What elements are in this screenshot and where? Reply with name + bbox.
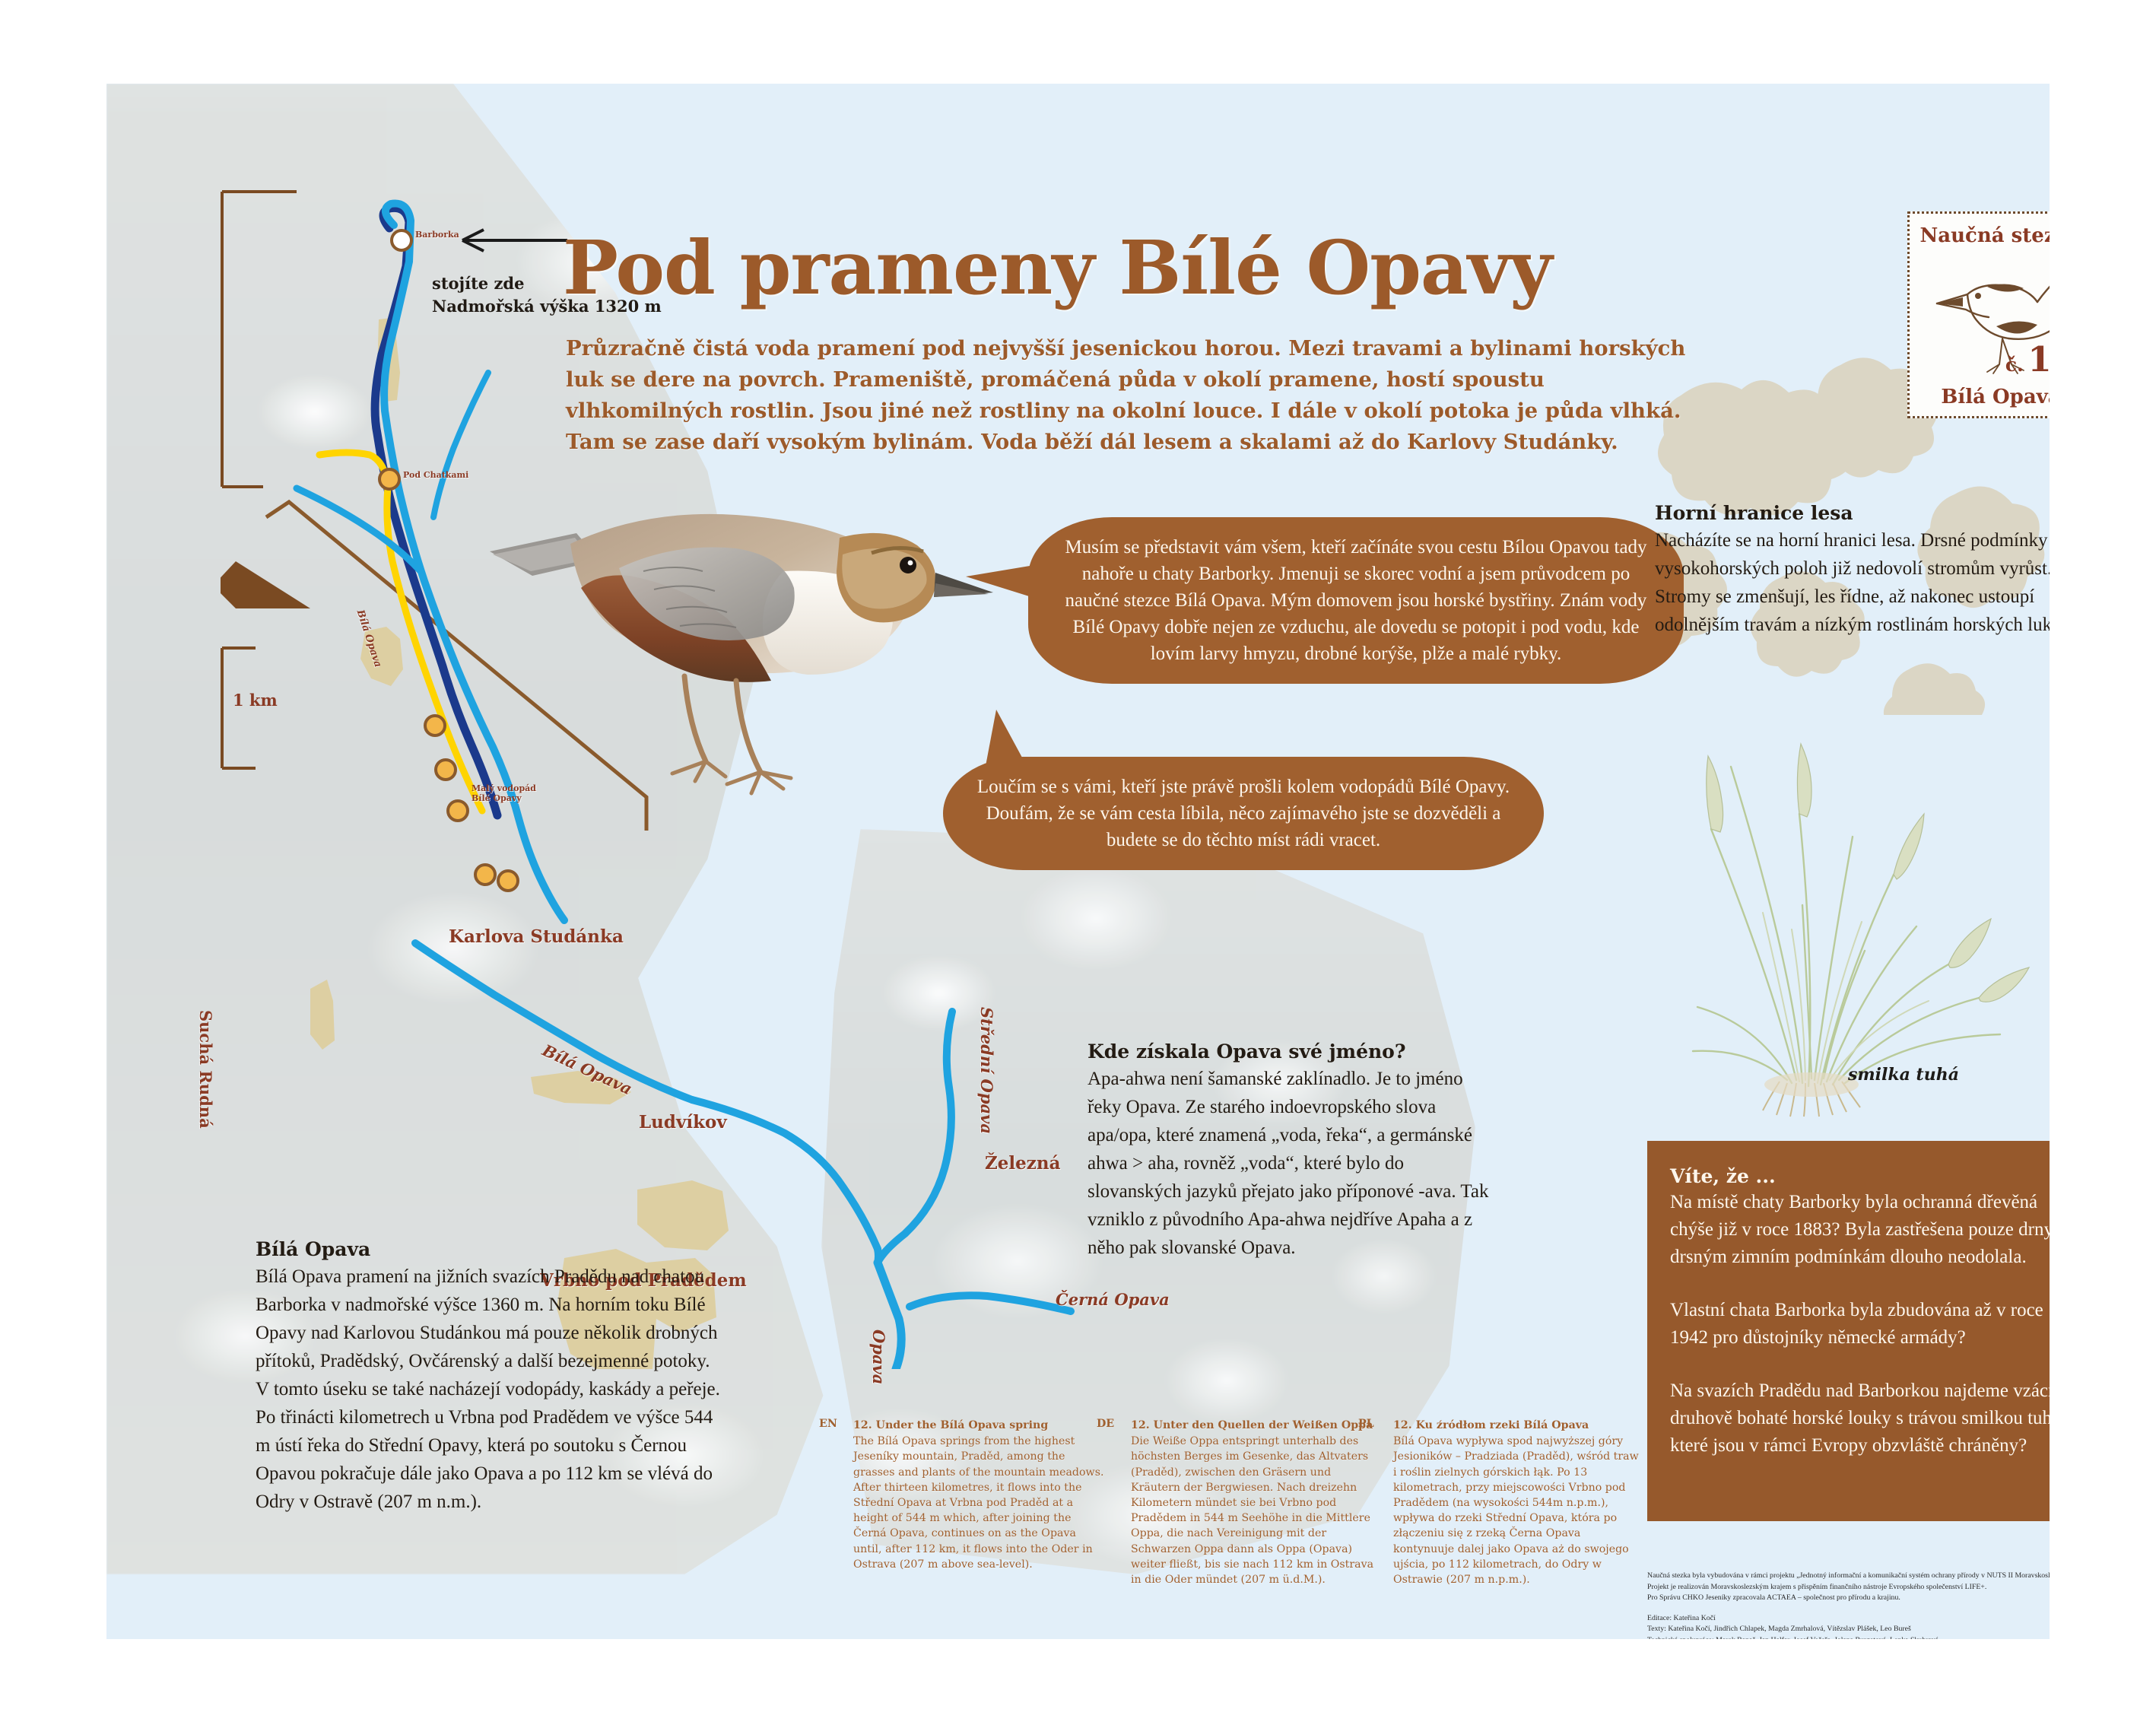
stamp-top-label: Naučná stezka — [1910, 224, 2050, 247]
translation-de-body: Die Weiße Oppa entspringt unterhalb des … — [1131, 1435, 1373, 1586]
translation-en-heading: 12. Under the Bílá Opava spring — [853, 1418, 1104, 1433]
translation-en: 12. Under the Bílá Opava spring The Bílá… — [853, 1418, 1104, 1572]
translation-lang-en: EN — [819, 1418, 837, 1430]
bubble-tail-icon — [966, 564, 1039, 599]
article-bila-opava: Bílá Opava Bílá Opava pramení na jižních… — [256, 1238, 727, 1516]
translation-pl: 12. Ku źródłom rzeki Bílá Opava Bílá Opa… — [1393, 1418, 1644, 1587]
north-arrow-icon — [221, 561, 310, 608]
translation-en-body: The Bílá Opava springs from the highest … — [853, 1435, 1104, 1571]
translation-pl-body: Bílá Opava wypływa spod najwyższej góry … — [1393, 1435, 1639, 1586]
did-you-know-box: Víte, že ... Na místě chaty Barborky byl… — [1647, 1141, 2050, 1521]
dipper-bird-illustration — [485, 498, 1002, 863]
did-you-know-paragraph-1: Na místě chaty Barborky byla ochranná dř… — [1670, 1189, 2050, 1271]
nardus-stricta-illustration — [1665, 723, 2046, 1118]
translation-de: 12. Unter den Quellen der Weißen Oppa Di… — [1131, 1418, 1382, 1587]
article-name-origin-heading: Kde získala Opava své jméno? — [1088, 1040, 1498, 1063]
map-river-opava: Opava — [869, 1329, 888, 1384]
credit-editor: Editace: Kateřina Kočí — [1647, 1613, 2050, 1625]
credits-spacer — [1647, 1604, 2050, 1613]
did-you-know-heading: Víte, že ... — [1670, 1165, 2050, 1187]
map-river-cerna-opava: Černá Opava — [1056, 1290, 1170, 1309]
article-bila-opava-body: Bílá Opava pramení na jižních svazích Pr… — [256, 1263, 727, 1516]
speech-bubble-farewell-text: Loučím se s vámi, kteří jste právě prošl… — [977, 777, 1510, 850]
bubble-tail-icon — [986, 710, 1027, 766]
credit-line-1: Naučná stezka byla vybudována v rámci pr… — [1647, 1571, 2050, 1582]
page-title: Pod prameny Bílé Opavy — [563, 224, 1551, 311]
credit-line-3: Pro Správu CHKO Jeseníky zpracovala ACTA… — [1647, 1593, 2050, 1604]
information-board: stojíte zde Nadmořská výška 1320 m Barbo… — [106, 84, 2050, 1639]
credit-technical: Technická spolupráce: Marek Banaš, Jan H… — [1647, 1635, 2050, 1640]
map-place-barborka[interactable]: Barborka — [415, 230, 459, 240]
translation-lang-pl: PL — [1358, 1418, 1374, 1430]
article-bila-opava-heading: Bílá Opava — [256, 1238, 727, 1260]
stamp-number: č. 12 — [2005, 339, 2050, 380]
article-forest-limit-body: Nacházíte se na horní hranici lesa. Drsn… — [1655, 526, 2050, 639]
you-are-here-line1: stojíte zde — [432, 274, 524, 293]
stamp-number-value: 12 — [2027, 339, 2050, 380]
speech-bubble-farewell: Loučím se s vámi, kteří jste právě prošl… — [943, 757, 1544, 870]
map-place-ludvikov[interactable]: Ludvíkov — [639, 1112, 727, 1133]
credits-block: Naučná stezka byla vybudována v rámci pr… — [1647, 1571, 2050, 1639]
map-place-sucha-rudna[interactable]: Suchá Rudná — [196, 1010, 215, 1129]
article-forest-limit-heading: Horní hranice lesa — [1655, 502, 2050, 524]
trail-stamp-badge: Naučná stezka č. 12 Bílá Opava — [1907, 211, 2050, 418]
map-place-karlova-studanka[interactable]: Karlova Studánka — [449, 926, 624, 947]
credit-line-2: Projekt je realizován Moravskoslezským k… — [1647, 1582, 2050, 1593]
plant-caption: smilka tuhá — [1848, 1065, 1959, 1085]
map-place-zelezna[interactable]: Železná — [985, 1153, 1060, 1174]
stamp-number-prefix: č. — [2005, 354, 2024, 376]
translation-lang-de: DE — [1097, 1418, 1114, 1430]
article-name-origin: Kde získala Opava své jméno? Apa-ahwa ne… — [1088, 1040, 1498, 1262]
speech-bubble-intro-text: Musím se představit vám všem, kteří začí… — [1065, 537, 1646, 664]
intro-paragraph: Průzračně čistá voda pramení pod nejvyšš… — [566, 333, 1691, 458]
map-river-stredni-opava: Střední Opava — [977, 1007, 996, 1134]
stamp-bottom-label: Bílá Opava — [1910, 386, 2050, 408]
credit-texts: Texty: Kateřina Kočí, Jindřich Chlapek, … — [1647, 1624, 2050, 1635]
map-scale-label: 1 km — [233, 691, 278, 710]
translation-pl-heading: 12. Ku źródłom rzeki Bílá Opava — [1393, 1418, 1644, 1433]
translation-de-heading: 12. Unter den Quellen der Weißen Oppa — [1131, 1418, 1382, 1433]
article-name-origin-body: Apa-ahwa není šamanské zaklínadlo. Je to… — [1088, 1065, 1498, 1262]
speech-bubble-intro: Musím se představit vám všem, kteří začí… — [1028, 517, 1684, 684]
map-place-pod-chatkami[interactable]: Pod Chatkami — [403, 470, 468, 480]
article-forest-limit: Horní hranice lesa Nacházíte se na horní… — [1655, 502, 2050, 639]
did-you-know-paragraph-2: Vlastní chata Barborka byla zbudována až… — [1670, 1297, 2050, 1352]
did-you-know-paragraph-3: Na svazích Pradědu nad Barborkou najdeme… — [1670, 1377, 2050, 1460]
